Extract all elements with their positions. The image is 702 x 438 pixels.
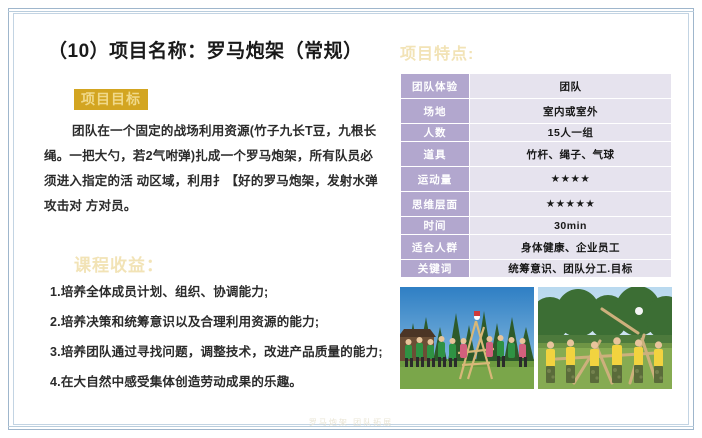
row-value: 30min bbox=[470, 217, 672, 235]
list-item: 1.培养全体成员计划、组织、协调能力; bbox=[50, 284, 400, 301]
right-content-column: 项目特点: 团队体验 团队 场地 室内或室外 人数 15人一组 道具 竹杆、绳子… bbox=[400, 40, 672, 278]
list-item: 4.在大自然中感受集体创造劳动成果的乐趣。 bbox=[50, 374, 400, 391]
row-value: 团队 bbox=[470, 74, 672, 99]
row-value-rating: ★★★★ bbox=[470, 167, 672, 192]
row-label: 时间 bbox=[401, 217, 470, 235]
table-row: 道具 竹杆、绳子、气球 bbox=[401, 142, 672, 167]
table-row: 场地 室内或室外 bbox=[401, 99, 672, 124]
row-label: 场地 bbox=[401, 99, 470, 124]
list-item: 3.培养团队通过寻找问题，调整技术，改进产品质量的能力; bbox=[50, 344, 400, 361]
list-item: 2.培养决策和统筹意识以及合理利用资源的能力; bbox=[50, 314, 400, 331]
table-row: 团队体验 团队 bbox=[401, 74, 672, 99]
project-features-heading: 项目特点: bbox=[400, 40, 672, 64]
project-features-table: 团队体验 团队 场地 室内或室外 人数 15人一组 道具 竹杆、绳子、气球 运动… bbox=[400, 73, 672, 278]
table-row: 人数 15人一组 bbox=[401, 124, 672, 142]
left-content-column: （10）项目名称：罗马炮架（常规） 项目目标 团队在一个固定的战场利用资源(竹子… bbox=[30, 36, 390, 404]
page-title: （10）项目名称：罗马炮架（常规） bbox=[48, 36, 390, 63]
table-row: 时间 30min bbox=[401, 217, 672, 235]
row-label: 适合人群 bbox=[401, 235, 470, 260]
activity-photo-yellow-team bbox=[538, 287, 672, 389]
row-label: 关键词 bbox=[401, 260, 470, 278]
table-row: 适合人群 身体健康、企业员工 bbox=[401, 235, 672, 260]
row-label: 团队体验 bbox=[401, 74, 470, 99]
row-label: 道具 bbox=[401, 142, 470, 167]
row-value: 室内或室外 bbox=[470, 99, 672, 124]
row-label: 运动量 bbox=[401, 167, 470, 192]
watermark-text: 罗马炮架 团队拓展 bbox=[0, 417, 702, 428]
photo-green-team-graphic bbox=[400, 287, 534, 389]
table-row: 关键词 统筹意识、团队分工.目标 bbox=[401, 260, 672, 278]
row-value: 统筹意识、团队分工.目标 bbox=[470, 260, 672, 278]
course-benefits-heading: 课程收益： bbox=[74, 251, 390, 276]
frame-accent-top-line bbox=[8, 11, 694, 12]
course-benefits-list: 1.培养全体成员计划、组织、协调能力; 2.培养决策和统筹意识以及合理利用资源的… bbox=[50, 284, 400, 391]
project-goal-body-text: 团队在一个固定的战场利用资源(竹子九长T豆，九根长绳。一把大勺，若2气咐弹)扎成… bbox=[44, 119, 384, 219]
row-value-rating: ★★★★★ bbox=[470, 192, 672, 217]
row-value: 身体健康、企业员工 bbox=[470, 235, 672, 260]
project-goal-badge: 项目目标 bbox=[74, 89, 148, 110]
activity-photo-green-team bbox=[400, 287, 534, 389]
table-row: 思维层面 ★★★★★ bbox=[401, 192, 672, 217]
row-value: 15人一组 bbox=[470, 124, 672, 142]
table-row: 运动量 ★★★★ bbox=[401, 167, 672, 192]
photo-yellow-team-graphic bbox=[538, 287, 672, 389]
row-value: 竹杆、绳子、气球 bbox=[470, 142, 672, 167]
row-label: 思维层面 bbox=[401, 192, 470, 217]
row-label: 人数 bbox=[401, 124, 470, 142]
activity-photo-row bbox=[400, 287, 672, 389]
slide-canvas: （10）项目名称：罗马炮架（常规） 项目目标 团队在一个固定的战场利用资源(竹子… bbox=[0, 0, 702, 438]
